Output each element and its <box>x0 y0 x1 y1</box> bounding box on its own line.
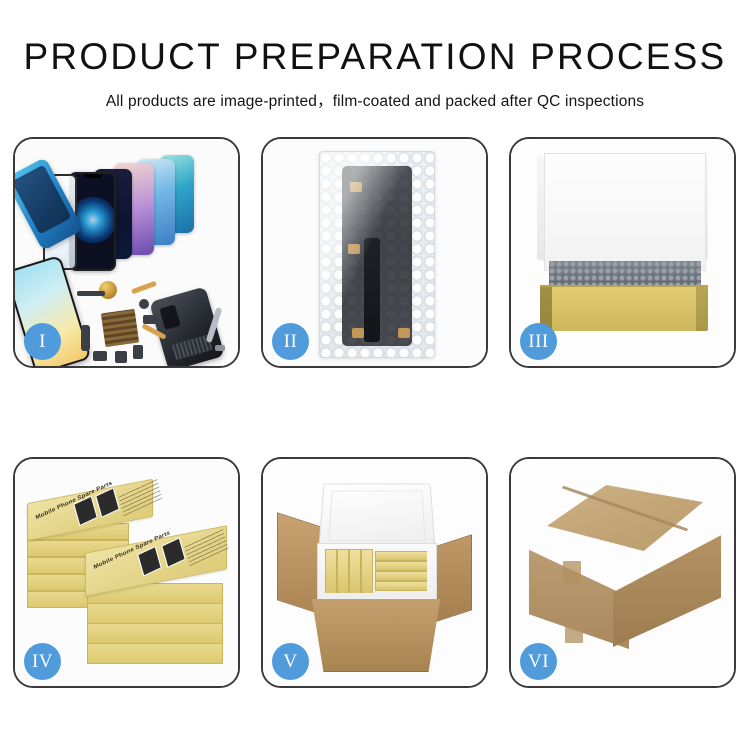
foam-lid-icon <box>318 483 435 549</box>
yellow-box-icon <box>337 549 349 593</box>
tape-icon <box>350 182 362 192</box>
bubble-wrap-bag-icon <box>319 151 435 358</box>
yellow-boxes-group-icon <box>325 549 427 593</box>
yellow-box-icon <box>361 549 373 593</box>
process-step-panel-3: III <box>509 137 736 368</box>
process-step-grid: I II III <box>13 137 737 688</box>
step-number-badge-1: I <box>24 323 61 360</box>
spare-part-icon <box>215 345 225 351</box>
page-subtitle: All products are image-printed，film-coat… <box>0 89 750 111</box>
spare-part-icon <box>143 315 159 324</box>
process-step-panel-5: V <box>261 457 488 688</box>
step-number-badge-5: V <box>272 643 309 680</box>
stacked-box-icon <box>87 603 223 624</box>
box-label-text-lines-icon <box>118 476 163 516</box>
spare-part-icon <box>139 299 149 309</box>
page-title: PRODUCT PREPARATION PROCESS <box>0 38 750 77</box>
carton-tape-icon <box>565 621 583 643</box>
flex-cable-icon <box>364 238 380 342</box>
yellow-box-icon <box>375 571 427 581</box>
carton-top-face <box>547 485 703 551</box>
step-number-badge-3: III <box>520 323 557 360</box>
box-label-photo-icon <box>161 537 186 567</box>
spare-part-icon <box>81 325 90 351</box>
yellow-box-icon <box>375 551 427 561</box>
tape-icon <box>348 244 360 254</box>
stacked-box-icon <box>87 643 223 664</box>
sealed-carton-icon <box>529 485 721 657</box>
spare-part-icon <box>115 351 127 363</box>
step-number-badge-2: II <box>272 323 309 360</box>
process-step-panel-4: Mobile Phone Spare Parts Mobile Phone Sp… <box>13 457 240 688</box>
stacked-box-icon <box>87 623 223 644</box>
yellow-box-body-icon <box>540 287 708 331</box>
yellow-box-icon <box>325 549 337 593</box>
carton-body-icon <box>303 599 449 672</box>
carton-tape-icon <box>563 561 581 583</box>
chip-array-icon <box>101 309 139 347</box>
process-step-panel-6: VI <box>509 457 736 688</box>
process-step-panel-2: II <box>261 137 488 368</box>
yellow-box-icon <box>349 549 361 593</box>
spare-part-icon <box>93 351 107 361</box>
tape-icon <box>398 328 410 338</box>
box-label-text-lines-icon <box>184 526 229 566</box>
spare-part-icon <box>133 345 143 359</box>
process-step-panel-1: I <box>13 137 240 368</box>
phone-notch-icon <box>84 174 102 178</box>
spare-part-icon <box>77 291 105 296</box>
box-label-photo-icon <box>137 546 162 576</box>
box-stack-icon: Mobile Phone Spare Parts Mobile Phone Sp… <box>25 479 233 674</box>
box-white-lid-icon <box>544 153 706 271</box>
step-number-badge-6: VI <box>520 643 557 680</box>
speaker-module-icon <box>99 281 117 299</box>
page-header: PRODUCT PREPARATION PROCESS All products… <box>0 0 750 111</box>
yellow-box-icon <box>375 561 427 571</box>
step-number-badge-4: IV <box>24 643 61 680</box>
yellow-box-icon <box>375 581 427 591</box>
tape-icon <box>352 328 364 338</box>
